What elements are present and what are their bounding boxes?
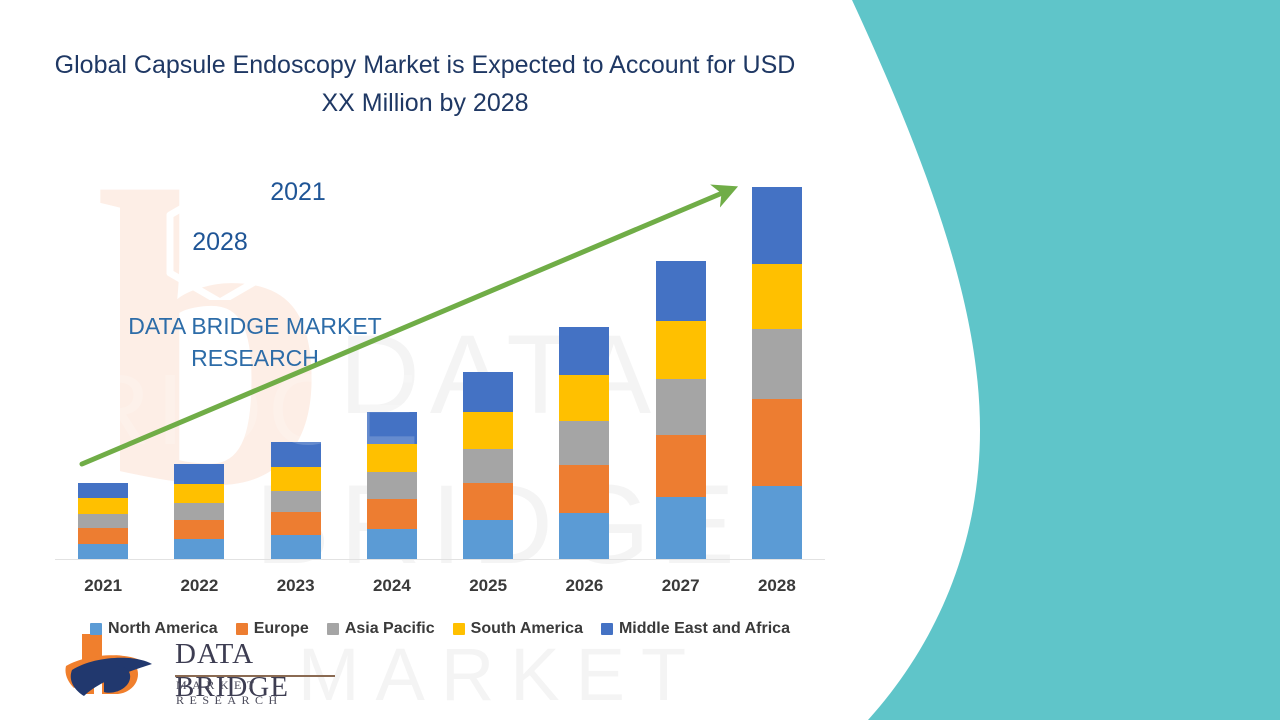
x-axis-label-2021: 2021: [78, 576, 128, 596]
side-panel-brand-name: DATA BRIDGE MARKET RESEARCH: [105, 310, 405, 374]
hexagon-outline-icons: [150, 140, 380, 300]
bar-segment: [559, 465, 609, 513]
bar-segment: [463, 520, 513, 559]
legend-swatch-icon: [601, 623, 613, 635]
x-axis-labels: 20212022202320242025202620272028: [55, 572, 825, 600]
bar-segment: [559, 375, 609, 421]
bar-segment: [656, 497, 706, 559]
legend-swatch-icon: [453, 623, 465, 635]
x-axis-label-2024: 2024: [367, 576, 417, 596]
bar-segment: [463, 372, 513, 412]
legend-item[interactable]: North America: [90, 620, 218, 638]
bar-segment: [559, 421, 609, 465]
bar-segment: [463, 412, 513, 449]
bar-segment: [752, 486, 802, 559]
bar-segment: [656, 321, 706, 379]
data-bridge-logo: DATA BRIDGE MARKET RESEARCH: [60, 630, 310, 710]
bar-segment: [656, 379, 706, 435]
legend-label: North America: [108, 620, 218, 638]
legend-label: Europe: [254, 620, 309, 638]
bar-segment: [559, 513, 609, 559]
bar-segment: [752, 187, 802, 264]
legend-label: Middle East and Africa: [619, 620, 790, 638]
hexagon-front-label: 2021: [256, 178, 340, 207]
bar-segment: [752, 329, 802, 399]
stacked-bar-2026: [559, 327, 609, 559]
side-panel-background: [830, 0, 1280, 720]
legend-swatch-icon: [90, 623, 102, 635]
x-axis-label-2027: 2027: [656, 576, 706, 596]
bar-segment: [752, 399, 802, 486]
hexagon-back-label: 2028: [178, 228, 262, 257]
bar-segment: [656, 435, 706, 497]
bar-segment: [463, 483, 513, 520]
legend-swatch-icon: [236, 623, 248, 635]
x-axis-label-2028: 2028: [752, 576, 802, 596]
chart-title: Global Capsule Endoscopy Market is Expec…: [50, 46, 800, 122]
legend-item[interactable]: Europe: [236, 620, 309, 638]
stacked-bar-2028: [752, 187, 802, 559]
stacked-bar-2027: [656, 261, 706, 559]
legend-swatch-icon: [327, 623, 339, 635]
bar-segment: [559, 327, 609, 375]
legend-item[interactable]: Asia Pacific: [327, 620, 435, 638]
legend-item[interactable]: South America: [453, 620, 583, 638]
x-axis-label-2023: 2023: [271, 576, 321, 596]
x-axis-label-2026: 2026: [559, 576, 609, 596]
logo-divider: [175, 675, 335, 677]
hexagon-badges: 2021 2028: [150, 140, 380, 300]
legend-label: Asia Pacific: [345, 620, 435, 638]
legend-label: South America: [471, 620, 583, 638]
bar-segment: [656, 261, 706, 321]
logo-bottom-text: MARKET RESEARCH: [176, 678, 310, 708]
stacked-bar-2025: [463, 372, 513, 559]
slide-canvas: b DATA BRIDGE MARKET RESEARCH Global Cap…: [0, 0, 1280, 720]
chart-legend: North AmericaEuropeAsia PacificSouth Ame…: [50, 616, 830, 642]
bar-segment: [752, 264, 802, 329]
x-axis-label-2025: 2025: [463, 576, 513, 596]
legend-item[interactable]: Middle East and Africa: [601, 620, 790, 638]
x-axis-label-2022: 2022: [174, 576, 224, 596]
bar-segment: [463, 449, 513, 483]
